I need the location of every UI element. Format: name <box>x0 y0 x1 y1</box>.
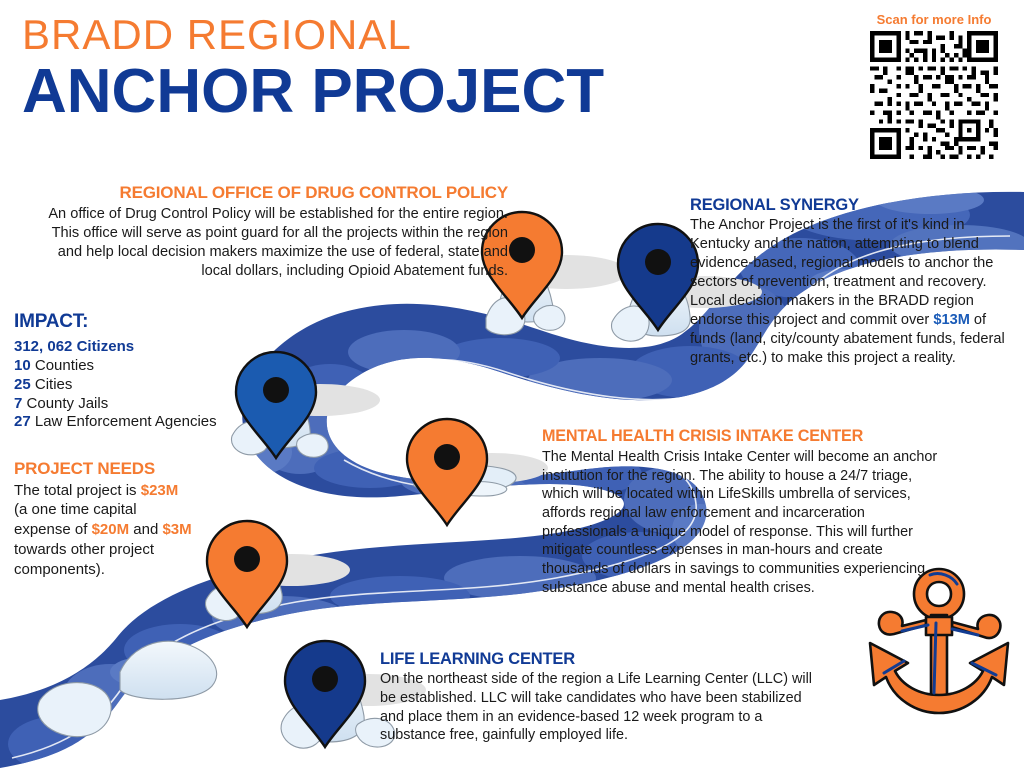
impact-label: County Jails <box>27 395 109 412</box>
list-item: 7 County Jails <box>14 395 314 414</box>
section-drug-control-policy: REGIONAL OFFICE OF DRUG CONTROL POLICY A… <box>38 184 508 281</box>
list-item: 27 Law Enforcement Agencies <box>14 413 314 432</box>
needs-text-part3: and <box>129 521 162 538</box>
impact-label: Cities <box>35 376 73 393</box>
map-pin-mhcic[interactable] <box>407 419 487 525</box>
impact-number: 25 <box>14 376 31 393</box>
impact-number: 27 <box>14 413 31 430</box>
section-heading-drug-control-policy: REGIONAL OFFICE OF DRUG CONTROL POLICY <box>38 184 508 203</box>
section-heading-life-learning-center: LIFE LEARNING CENTER <box>380 650 812 668</box>
section-impact: IMPACT: 312, 062 Citizens 10 Counties 25… <box>14 312 314 432</box>
list-item: 25 Cities <box>14 376 314 395</box>
title-subtitle: BRADD REGIONAL <box>22 14 604 57</box>
section-regional-synergy: REGIONAL SYNERGY The Anchor Project is t… <box>690 196 1008 368</box>
map-pin-synergy[interactable] <box>618 224 698 330</box>
qr-block[interactable]: Scan for more Info <box>860 12 1008 159</box>
needs-text-part1: The total project is <box>14 482 141 499</box>
section-body-life-learning-center: On the northeast side of the region a Li… <box>380 670 812 745</box>
qr-code-icon[interactable] <box>870 31 998 159</box>
section-heading-mental-health: MENTAL HEALTH CRISIS INTAKE CENTER <box>542 428 942 446</box>
infographic-poster: BRADD REGIONAL ANCHOR PROJECT Scan for m… <box>0 0 1024 768</box>
impact-number: 7 <box>14 395 22 412</box>
needs-text-part4: towards other project components). <box>14 541 154 578</box>
section-heading-impact: IMPACT: <box>14 312 314 333</box>
impact-label: Law Enforcement Agencies <box>35 413 217 430</box>
section-body-mental-health: The Mental Health Crisis Intake Center w… <box>542 448 942 598</box>
section-body-regional-synergy: The Anchor Project is the first of it's … <box>690 216 1008 368</box>
map-pin-llc[interactable] <box>285 641 365 747</box>
section-body-drug-control-policy: An office of Drug Control Policy will be… <box>38 205 508 281</box>
section-body-project-needs: The total project is $23M (a one time ca… <box>14 481 194 580</box>
impact-number: 312, 062 <box>14 338 72 355</box>
impact-label: Counties <box>35 357 94 374</box>
list-item: 10 Counties <box>14 357 314 376</box>
qr-caption: Scan for more Info <box>860 12 1008 27</box>
map-pin-needs[interactable] <box>207 521 287 627</box>
page-title: ANCHOR PROJECT <box>22 59 604 124</box>
synergy-amount: $13M <box>933 312 970 328</box>
impact-stats-list: 312, 062 Citizens 10 Counties 25 Cities … <box>14 338 314 432</box>
section-heading-project-needs: PROJECT NEEDS <box>14 460 194 479</box>
section-mental-health-crisis-intake-center: MENTAL HEALTH CRISIS INTAKE CENTER The M… <box>542 428 942 598</box>
needs-amount-capital: $20M <box>92 521 130 538</box>
section-life-learning-center: LIFE LEARNING CENTER On the northeast si… <box>380 650 812 745</box>
impact-number: 10 <box>14 357 31 374</box>
needs-amount-other: $3M <box>162 521 191 538</box>
list-item: 312, 062 Citizens <box>14 338 314 357</box>
needs-amount-total: $23M <box>141 482 179 499</box>
impact-label: Citizens <box>77 338 135 355</box>
section-heading-regional-synergy: REGIONAL SYNERGY <box>690 196 1008 214</box>
poster-header: BRADD REGIONAL ANCHOR PROJECT <box>22 14 604 124</box>
section-project-needs: PROJECT NEEDS The total project is $23M … <box>14 460 194 580</box>
